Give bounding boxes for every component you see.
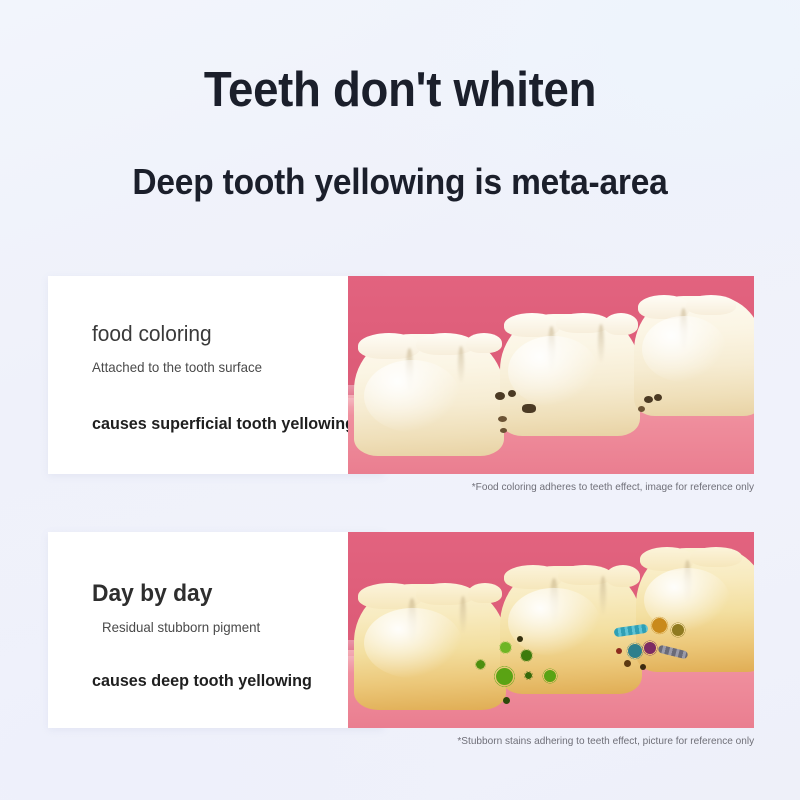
surface-stain-5 — [522, 404, 536, 413]
card-2-lead-block: causes deep tooth yellowing — [92, 669, 352, 693]
card-1-lead: causes superficial tooth yellowing — [92, 412, 339, 436]
bacteria-teal-1 — [628, 644, 642, 658]
yellow-molar-left-groove-2 — [460, 596, 466, 634]
promo-page: Teeth don't whiten Deep tooth yellowing … — [0, 0, 800, 800]
surface-stain-8 — [654, 394, 662, 401]
molar-left-groove-2 — [458, 346, 464, 384]
surface-stain-6 — [644, 396, 653, 403]
molar-middle — [500, 314, 640, 436]
bacteria-dot-2 — [503, 697, 510, 704]
surface-stain-4 — [500, 428, 507, 433]
card-1-subtext: Attached to the tooth surface — [92, 357, 339, 377]
bacteria-green-6 — [525, 672, 532, 679]
molar-right-gloss — [642, 316, 726, 382]
yellow-molar-middle-gloss — [508, 588, 600, 656]
card-2-text-block: Day by day Residual stubborn pigment — [92, 580, 352, 637]
card-1-image — [348, 276, 754, 474]
molar-left-gloss — [364, 360, 460, 432]
bacteria-green-4 — [521, 650, 532, 661]
card-1-lead-block: causes superficial tooth yellowing — [92, 412, 352, 436]
card-2-lead: causes deep tooth yellowing — [92, 669, 339, 693]
bacteria-green-5 — [544, 670, 556, 682]
card-2-subtext: Residual stubborn pigment — [102, 617, 340, 637]
bacteria-green-1 — [496, 668, 513, 685]
bacteria-olive-1 — [672, 624, 684, 636]
bacteria-dot-5 — [624, 660, 631, 667]
yellow-molar-left-cusp-2 — [416, 583, 474, 605]
card-food-coloring: food coloring Attached to the tooth surf… — [48, 276, 754, 474]
bacteria-dot-1 — [517, 636, 523, 642]
card-1-kicker: food coloring — [92, 320, 339, 348]
card-day-by-day: Day by day Residual stubborn pigment cau… — [48, 532, 754, 728]
bacteria-orange-1 — [652, 618, 667, 633]
surface-stain-7 — [638, 406, 645, 412]
page-title: Teeth don't whiten — [28, 62, 772, 118]
bacteria-green-2 — [500, 642, 511, 653]
surface-stain-1 — [495, 392, 505, 400]
molar-left-cusp-3 — [466, 333, 502, 353]
yellow-molar-right-cusp-2 — [690, 547, 742, 567]
yellow-molar-middle-groove-2 — [600, 576, 606, 616]
card-1-caption: *Food coloring adheres to teeth effect, … — [472, 480, 754, 494]
card-2-caption: *Stubborn stains adhering to teeth effec… — [457, 734, 754, 748]
card-1-text-block: food coloring Attached to the tooth surf… — [92, 320, 352, 377]
page-subtitle: Deep tooth yellowing is meta-area — [28, 160, 772, 204]
bacteria-green-3 — [476, 660, 485, 669]
bacteria-purple-1 — [644, 642, 656, 654]
surface-stain-3 — [498, 416, 507, 422]
molar-right-cusp-2 — [686, 295, 736, 315]
bacteria-dot-4 — [640, 664, 646, 670]
bacteria-dot-3 — [616, 648, 622, 654]
molar-left — [354, 334, 504, 456]
molar-middle-groove-2 — [598, 324, 604, 364]
yellow-molar-left-cusp-3 — [468, 583, 502, 603]
molar-middle-gloss — [508, 336, 598, 406]
molar-middle-cusp-3 — [604, 313, 638, 335]
yellow-molar-left — [354, 584, 506, 710]
card-2-kicker: Day by day — [92, 580, 339, 608]
yellow-molar-left-gloss — [364, 608, 462, 678]
yellow-molar-middle-cusp-3 — [606, 565, 640, 587]
surface-stain-2 — [508, 390, 516, 397]
card-2-image — [348, 532, 754, 728]
